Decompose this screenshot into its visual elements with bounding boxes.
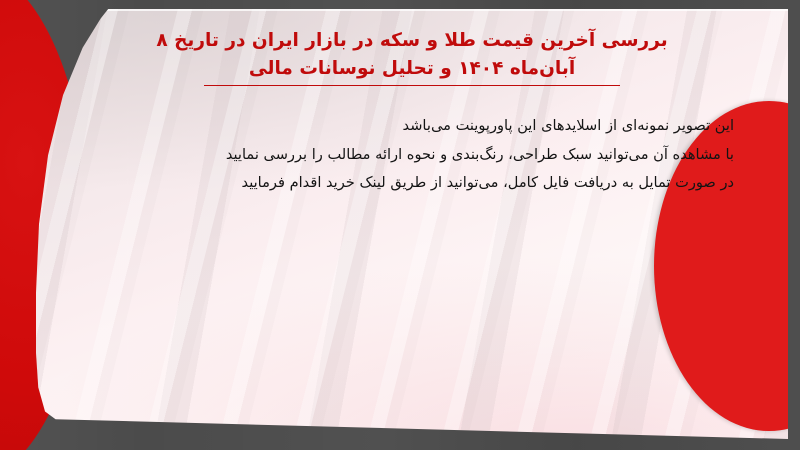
title-divider <box>204 85 620 86</box>
slide-content: بررسی آخرین قیمت طلا و سکه در بازار ایرا… <box>36 9 788 439</box>
slide-body: این تصویر نمونه‌ای از اسلایدهای این پاور… <box>80 112 744 197</box>
body-line-1: این تصویر نمونه‌ای از اسلایدهای این پاور… <box>172 112 734 140</box>
slide-title-line-1: بررسی آخرین قیمت طلا و سکه در بازار ایرا… <box>114 27 710 55</box>
content-panel: بررسی آخرین قیمت طلا و سکه در بازار ایرا… <box>36 9 788 439</box>
body-line-2: با مشاهده آن می‌توانید سبک طراحی، رنگ‌بن… <box>172 141 734 169</box>
body-line-3: در صورت تمایل به دریافت فایل کامل، می‌تو… <box>172 169 734 197</box>
slide-title: بررسی آخرین قیمت طلا و سکه در بازار ایرا… <box>80 23 744 83</box>
slide-canvas: بررسی آخرین قیمت طلا و سکه در بازار ایرا… <box>0 0 800 450</box>
content-panel-surface: بررسی آخرین قیمت طلا و سکه در بازار ایرا… <box>36 9 788 439</box>
slide-title-line-2: آبان‌ماه ۱۴۰۴ و تحلیل نوسانات مالی <box>114 55 710 83</box>
